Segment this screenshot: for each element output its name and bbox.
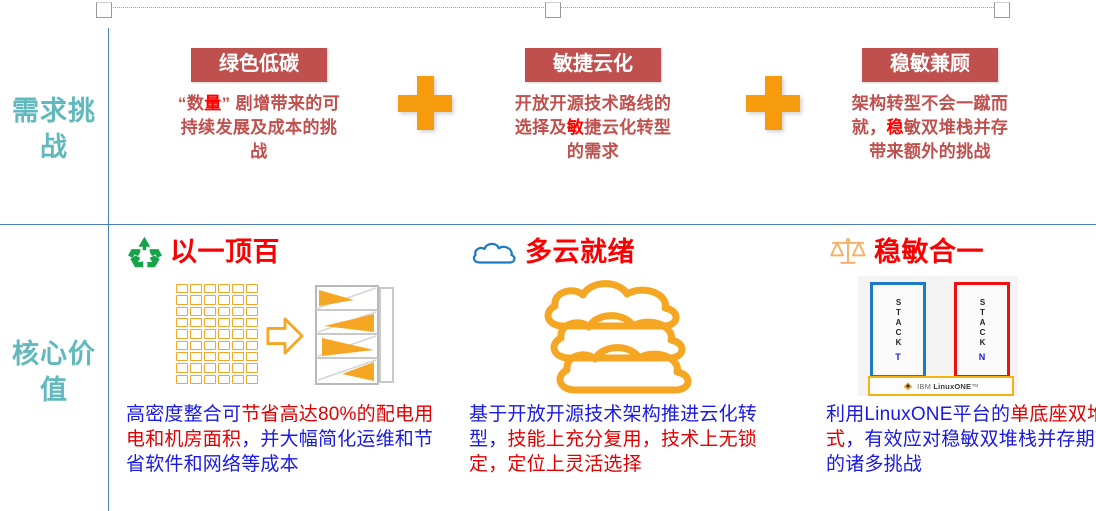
row-label-demand: 需求挑战 <box>0 42 108 217</box>
bracket-tick-middle <box>545 2 561 18</box>
linuxone-logo-icon <box>903 381 913 391</box>
value-text-2: 基于开放开源技术架构推进云化转型，技能上充分复用，技术上无锁定，定位上灵活选择 <box>463 402 793 477</box>
value-text-2-red: 技能上充分复用，技术上无锁定，定位上灵活选择 <box>469 429 757 475</box>
value-card-1: 以一顶百 <box>118 232 448 477</box>
plus-icon-2 <box>746 76 800 130</box>
values-row: 以一顶百 <box>108 232 1096 511</box>
cloud-icon <box>471 237 519 267</box>
rack-icon <box>314 284 396 386</box>
stack-box-n-letters: STACK <box>977 298 987 348</box>
linuxone-platform-bar: IBM LinuxONE™ <box>868 376 1014 396</box>
challenge-card-1: 绿色低碳 “数量” 剧增带来的可持续发展及成本的挑战 <box>174 30 344 163</box>
challenge-body-2: 开放开源技术路线的选择及敏捷云化转型的需求 <box>508 92 678 163</box>
value-header-2: 多云就绪 <box>463 232 793 272</box>
linuxone-brand-name: LinuxONE <box>933 382 971 391</box>
value-header-1: 以一顶百 <box>118 232 448 272</box>
dual-stack-diagram: STACK T STACK N IBM LinuxONE™ <box>858 276 1018 396</box>
value-art-2 <box>463 272 793 402</box>
challenge-card-2: 敏捷云化 开放开源技术路线的选择及敏捷云化转型的需求 <box>508 30 678 163</box>
stack-box-t-letters: STACK <box>893 298 903 348</box>
value-card-3: 稳敏合一 STACK T STACK N <box>820 232 1096 477</box>
row-label-value-text: 核心价值 <box>0 337 108 407</box>
bracket-tick-right <box>994 2 1010 18</box>
balance-scale-icon <box>828 235 868 269</box>
plus-icon-1 <box>398 76 452 130</box>
linuxone-brand-tm: ™ <box>971 382 979 391</box>
value-header-3: 稳敏合一 <box>820 232 1096 272</box>
challenge-body-3-highlight: 稳 <box>887 118 904 137</box>
horizontal-divider <box>0 224 1096 225</box>
server-grid-icon <box>176 284 258 384</box>
value-text-3-blue-a: 利用LinuxONE平台的 <box>826 404 1010 425</box>
stack-box-t-tag: T <box>895 352 901 362</box>
challenge-card-3: 稳敏兼顾 架构转型不会一蹴而就，稳敏双堆栈并存带来额外的挑战 <box>845 30 1015 163</box>
slide-canvas: 需求挑战 核心价值 绿色低碳 “数量” 剧增带来的可持续发展及成本的挑战 敏捷云… <box>0 0 1096 511</box>
value-art-3: STACK T STACK N IBM LinuxONE™ <box>820 272 1096 402</box>
value-title-3: 稳敏合一 <box>874 239 984 266</box>
value-text-3: 利用LinuxONE平台的单底座双堆栈模式，有效应对稳敏双堆栈并存期带来的诸多挑… <box>820 402 1096 477</box>
challenge-body-1: “数量” 剧增带来的可持续发展及成本的挑战 <box>174 92 344 163</box>
challenges-row: 绿色低碳 “数量” 剧增带来的可持续发展及成本的挑战 敏捷云化 开放开源技术路线… <box>108 30 1096 222</box>
challenge-body-3: 架构转型不会一蹴而就，稳敏双堆栈并存带来额外的挑战 <box>845 92 1015 163</box>
value-text-1-blue-a: 高密度整合可 <box>126 404 241 425</box>
arrow-right-icon <box>266 316 304 356</box>
value-text-3-blue-b: ，有效应对稳敏双堆栈并存期带来的诸多挑战 <box>826 429 1096 475</box>
linuxone-brand-ibm: IBM <box>917 382 931 391</box>
stack-box-t: STACK T <box>870 282 926 378</box>
challenge-badge-2: 敏捷云化 <box>525 48 661 82</box>
top-bracket <box>96 2 1008 18</box>
challenge-badge-3: 稳敏兼顾 <box>862 48 998 82</box>
value-text-1: 高密度整合可节省高达80%的配电用电和机房面积，并大幅简化运维和节省软件和网络等… <box>118 402 448 477</box>
challenge-badge-1: 绿色低碳 <box>191 48 327 82</box>
row-label-demand-text: 需求挑战 <box>0 94 108 164</box>
linuxone-brand-text: IBM LinuxONE™ <box>917 382 979 391</box>
bracket-tick-left <box>96 2 112 18</box>
row-label-value: 核心价值 <box>0 240 108 505</box>
challenge-body-2-highlight: 敏 <box>567 118 584 137</box>
stacked-clouds-icon <box>523 278 723 400</box>
value-title-2: 多云就绪 <box>525 239 635 266</box>
stack-box-n-tag: N <box>979 352 986 362</box>
recycle-icon <box>126 235 164 269</box>
value-title-1: 以一顶百 <box>170 239 280 266</box>
value-card-2: 多云就绪 基于开放开源技术架构推进云化转型，技能上充分复用，技术上无锁定，定位上… <box>463 232 793 477</box>
stack-box-n: STACK N <box>954 282 1010 378</box>
value-art-1 <box>118 272 448 402</box>
challenge-body-1-pre: “数 <box>178 94 204 113</box>
challenge-body-1-highlight: 量 <box>204 94 221 113</box>
